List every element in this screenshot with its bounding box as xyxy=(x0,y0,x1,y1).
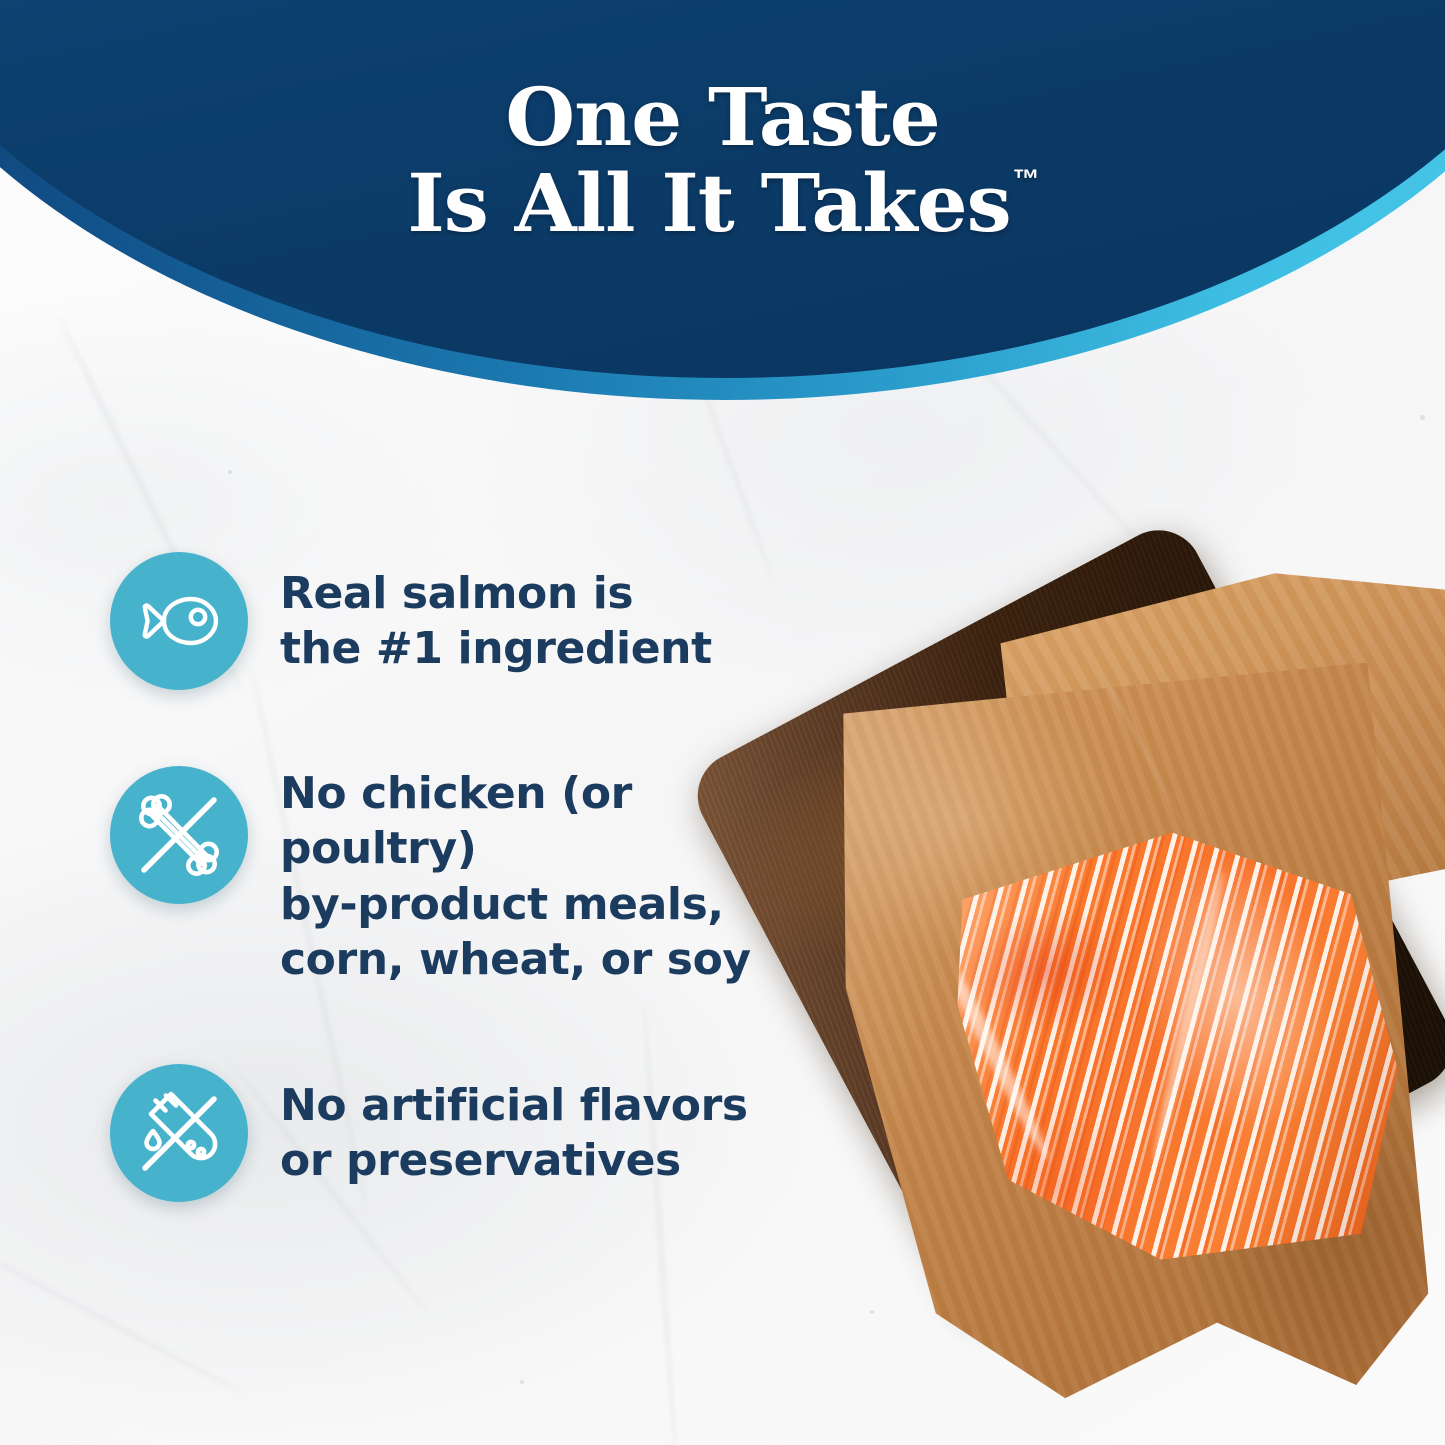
fish-icon xyxy=(131,573,227,669)
benefit-item-no-chicken: No chicken (or poultry) by-product meals… xyxy=(110,766,840,988)
headline-line-2-text: Is All It Takes xyxy=(407,156,1010,250)
benefits-list: Real salmon is the #1 ingredient xyxy=(110,552,840,1202)
no-bone-icon xyxy=(129,785,229,885)
benefit-text-no-artificial: No artificial flavors or preservatives xyxy=(280,1064,748,1189)
page-title: One Taste Is All It Takes™ xyxy=(0,0,1445,247)
fish-icon-badge xyxy=(110,552,248,690)
no-bone-icon-badge xyxy=(110,766,248,904)
benefit-item-no-artificial: No artificial flavors or preservatives xyxy=(110,1064,840,1202)
benefit-item-real-salmon: Real salmon is the #1 ingredient xyxy=(110,552,840,690)
benefit-text-no-chicken: No chicken (or poultry) by-product meals… xyxy=(280,766,840,988)
headline-line-2: Is All It Takes™ xyxy=(0,160,1445,246)
trademark-symbol: ™ xyxy=(1013,164,1040,194)
no-test-tube-icon-badge xyxy=(110,1064,248,1202)
header-banner: One Taste Is All It Takes™ xyxy=(0,0,1445,440)
benefit-text-real-salmon: Real salmon is the #1 ingredient xyxy=(280,552,712,677)
salmon-product-photo xyxy=(735,560,1445,1445)
no-test-tube-icon xyxy=(129,1083,229,1183)
headline-line-1: One Taste xyxy=(0,74,1445,160)
marketing-poster: One Taste Is All It Takes™ Real salmon i… xyxy=(0,0,1445,1445)
